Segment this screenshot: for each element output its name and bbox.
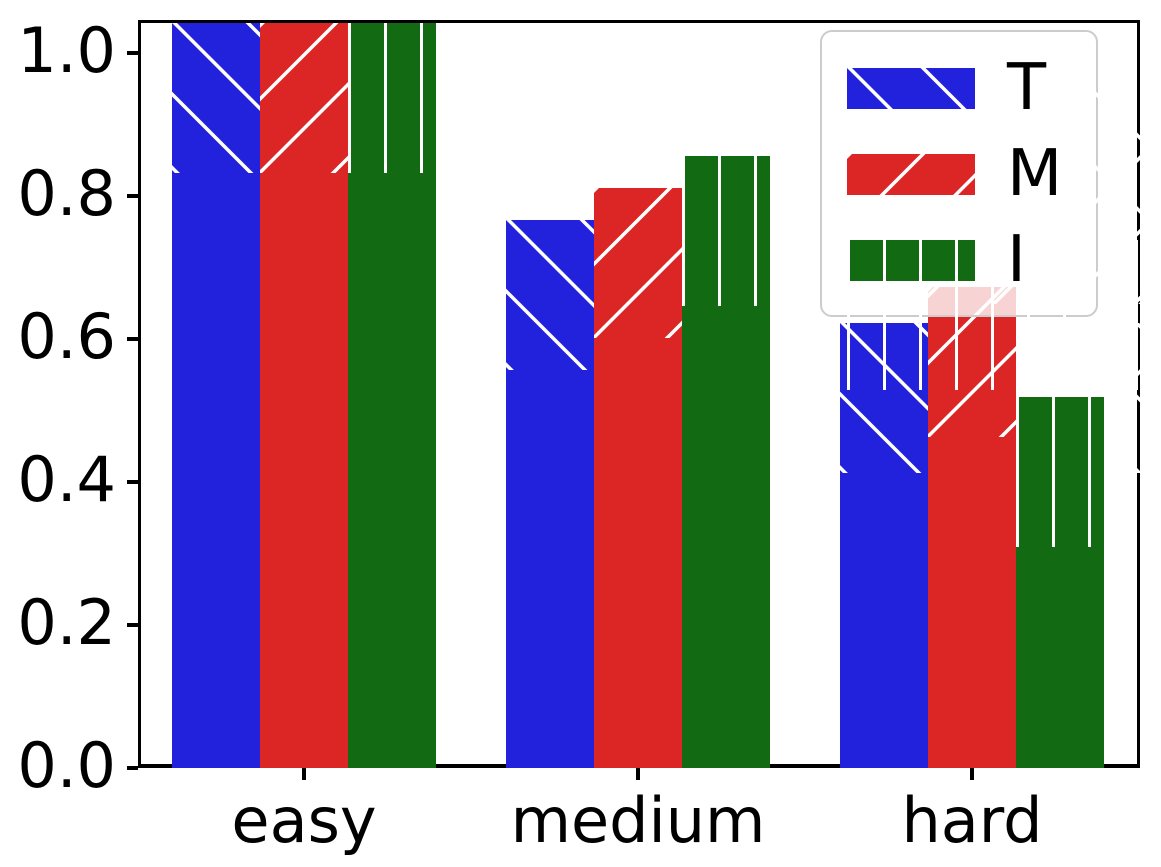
legend-label: M	[1007, 132, 1062, 216]
bar-hard-M	[928, 287, 1016, 768]
y-tick-mark	[127, 766, 138, 770]
x-tick-label: easy	[231, 790, 376, 852]
legend-item-T[interactable]: T	[822, 46, 1096, 130]
y-tick-label: 0.2	[17, 592, 116, 654]
bar-easy-M	[260, 23, 348, 768]
hatch-overlay	[348, 23, 648, 173]
x-tick-mark	[302, 768, 306, 780]
x-tick-mark	[970, 768, 974, 780]
legend-swatch-blue	[847, 68, 975, 109]
legend-label: T	[1007, 46, 1046, 130]
y-tick-mark	[127, 51, 138, 55]
bar-medium-M	[594, 188, 682, 768]
y-tick-label: 0.0	[17, 735, 116, 797]
bar-chart-figure: 1.0 0.8 0.6 0.4 0.2 0.0	[0, 0, 1161, 867]
bar-easy-I	[348, 23, 436, 768]
y-tick-mark	[127, 337, 138, 341]
x-tick-label: hard	[901, 790, 1042, 852]
bar-medium-I	[682, 156, 770, 768]
legend-swatch-green	[847, 240, 975, 281]
legend-item-I[interactable]: I	[822, 218, 1096, 302]
y-tick-label: 0.4	[17, 449, 116, 511]
bar-medium-T	[506, 220, 594, 768]
legend[interactable]: T M I	[820, 30, 1098, 317]
y-tick-mark	[127, 480, 138, 484]
bar-hard-I	[1016, 397, 1104, 768]
x-tick-mark	[636, 768, 640, 780]
y-tick-label: 0.8	[17, 163, 116, 225]
legend-item-M[interactable]: M	[822, 132, 1096, 216]
x-tick-label: medium	[511, 790, 766, 852]
y-tick-label: 0.6	[17, 306, 116, 368]
y-tick-mark	[127, 623, 138, 627]
legend-label: I	[1007, 218, 1026, 302]
bar-easy-T	[172, 23, 260, 768]
y-tick-label: 1.0	[17, 20, 116, 82]
legend-swatch-red	[847, 154, 975, 195]
y-tick-mark	[127, 194, 138, 198]
bar-hard-T	[840, 323, 928, 768]
